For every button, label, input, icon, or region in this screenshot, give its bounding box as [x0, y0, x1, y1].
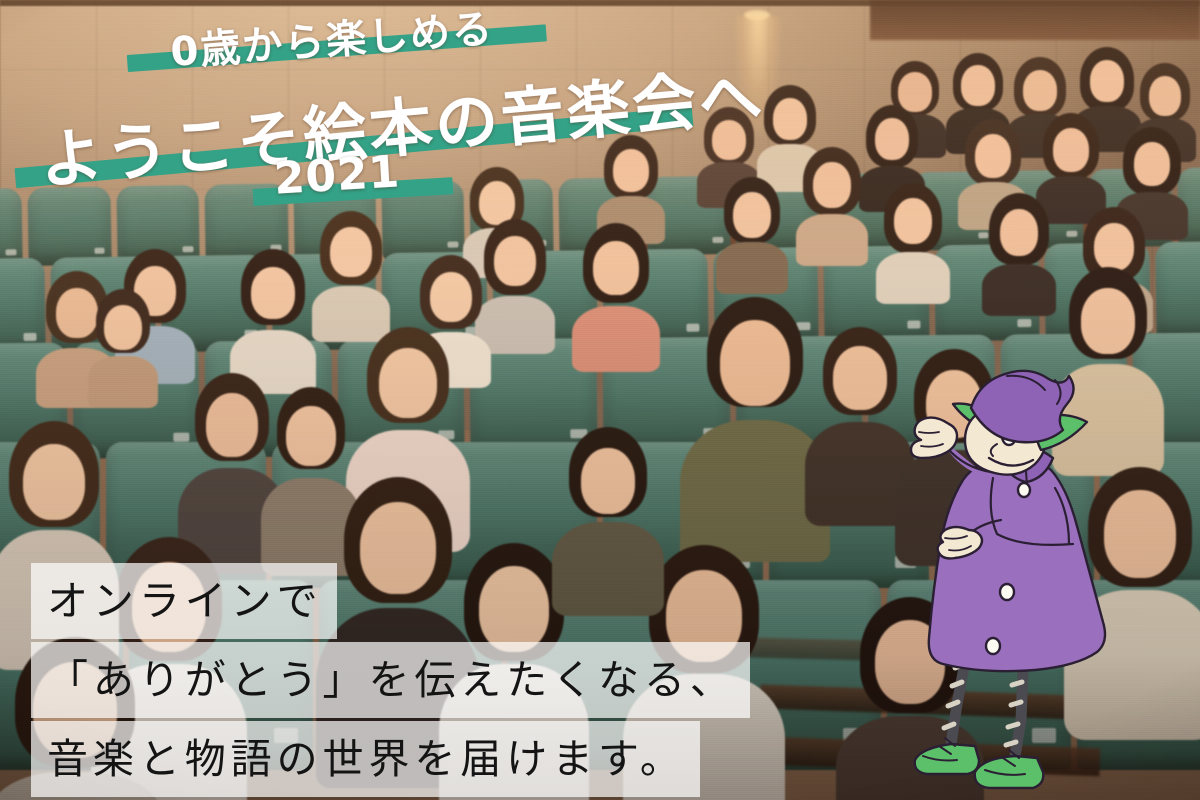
- headline-text-2: ようこそ絵本の音楽会へ: [37, 59, 768, 198]
- message-line-1: オンラインで: [31, 563, 337, 639]
- mascot-button-top: [1018, 483, 1030, 497]
- poster-canvas: 0歳から楽しめる ようこそ絵本の音楽会へ 2021 オンラインで 「ありがとう」…: [0, 0, 1200, 800]
- audience-member: [690, 300, 820, 550]
- mascot-purple-wizard-elf: [905, 352, 1130, 800]
- mascot-right-shoe: [975, 750, 1044, 788]
- headline-line-1: 0歳から楽しめる: [168, 0, 495, 78]
- audience-member: [480, 222, 550, 348]
- audience-member: [92, 292, 154, 402]
- audience-member: [236, 252, 310, 388]
- mascot-button-low: [986, 638, 1000, 654]
- audience-member: [812, 330, 908, 510]
- headline-line-3: 2021: [273, 146, 402, 204]
- message-panel: オンラインで 「ありがとう」を伝えたくなる、 音楽と物語の世界を届けます。: [31, 563, 750, 797]
- audience-member: [316, 214, 386, 338]
- mascot-right-leg: [1006, 670, 1023, 756]
- message-line-2: 「ありがとう」を伝えたくなる、: [31, 642, 750, 718]
- message-line-3: 音楽と物語の世界を届けます。: [31, 721, 700, 797]
- headline-year-text: 2021: [273, 146, 402, 204]
- mascot-button-mid: [1000, 584, 1014, 600]
- mascot-left-shoe: [915, 738, 979, 774]
- audience-member: [578, 226, 654, 366]
- headline-group: 0歳から楽しめる ようこそ絵本の音楽会へ 2021: [0, 0, 1200, 215]
- headline-text-1: 0歳から楽しめる: [169, 6, 495, 76]
